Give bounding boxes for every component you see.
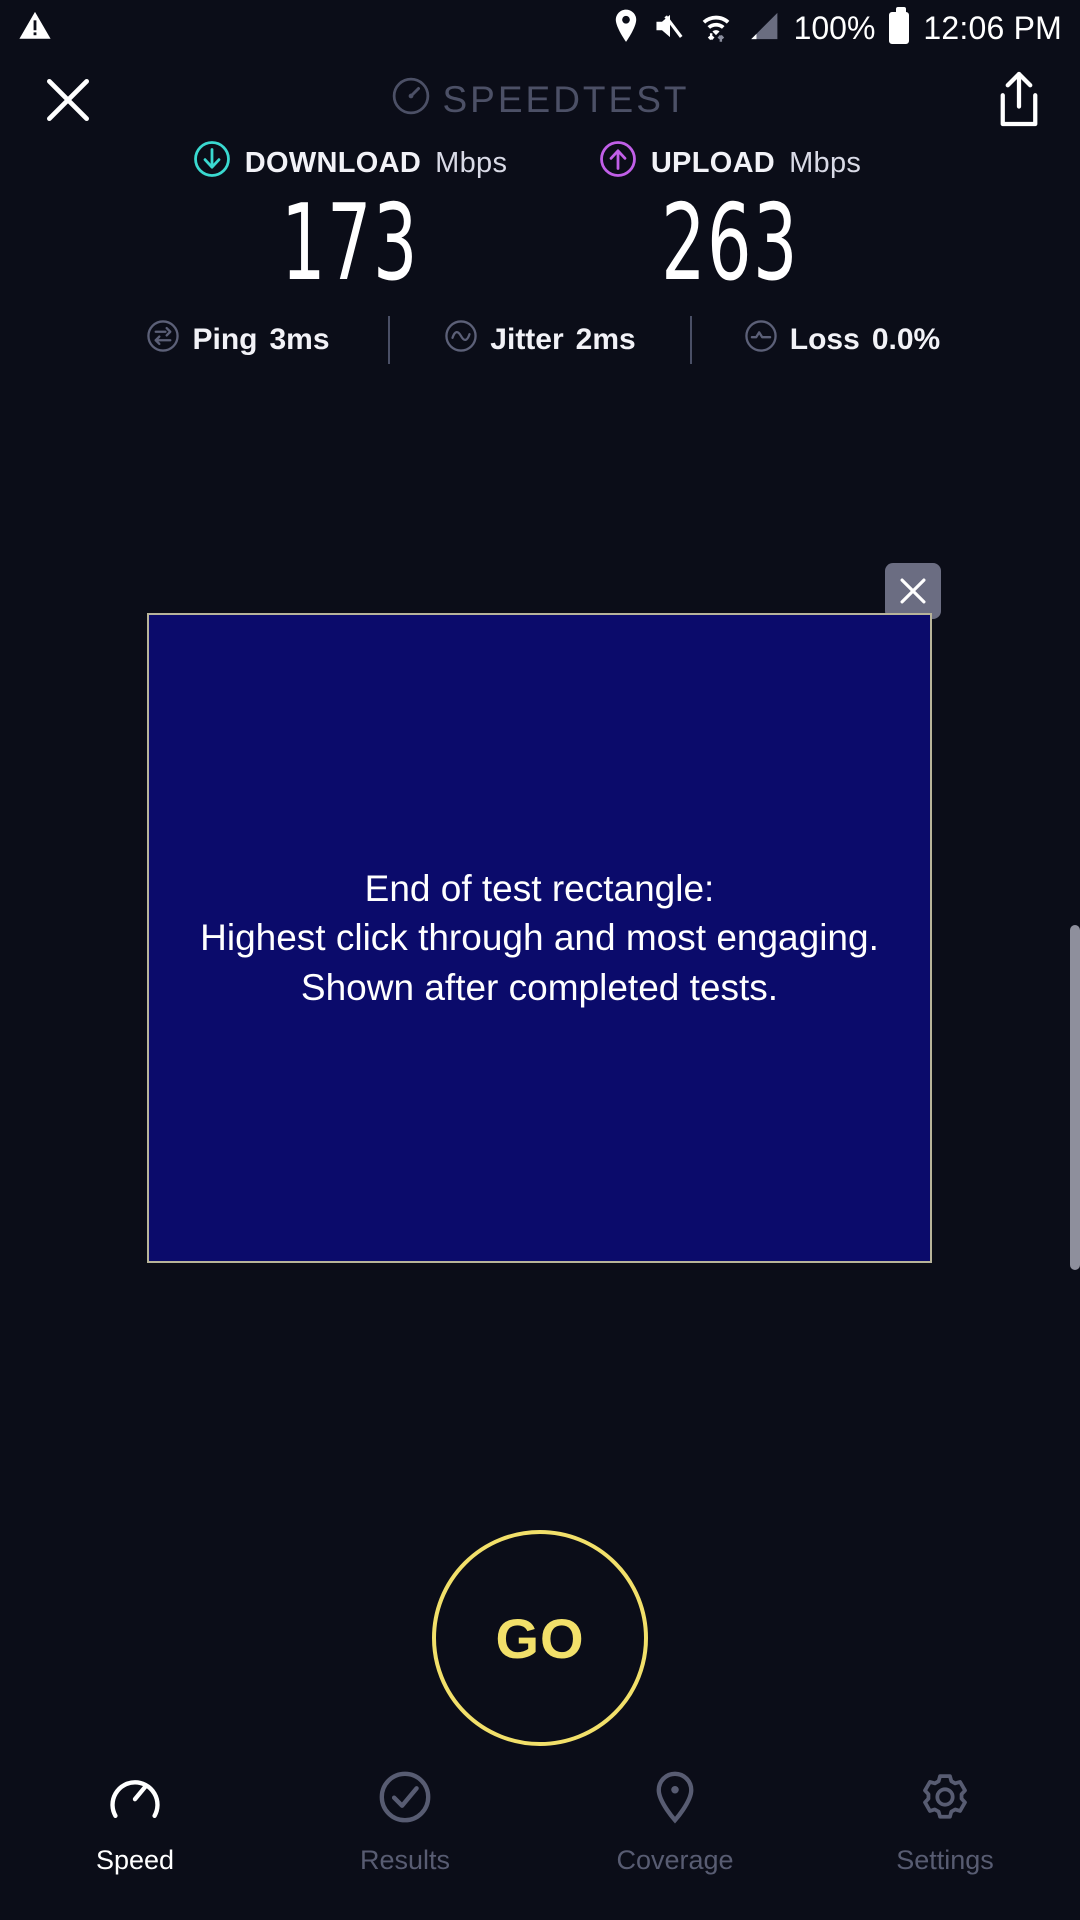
cellular-signal-icon: [746, 11, 780, 46]
nav-label-results: Results: [360, 1845, 450, 1876]
upload-header: UPLOAD Mbps: [540, 140, 920, 186]
close-icon: [896, 574, 930, 608]
close-icon[interactable]: [40, 72, 96, 128]
battery-full-icon: [889, 12, 909, 44]
ping-icon: [146, 319, 180, 361]
nav-item-results[interactable]: Results: [270, 1768, 540, 1876]
share-icon[interactable]: [994, 70, 1044, 130]
ad-text: End of test rectangle: Highest click thr…: [200, 864, 879, 1012]
upload-metric: UPLOAD Mbps 263: [540, 140, 920, 298]
jitter-metric: Jitter 2ms: [390, 319, 690, 361]
speedometer-icon: [106, 1768, 164, 1831]
jitter-icon: [444, 319, 478, 361]
nav-label-coverage: Coverage: [616, 1845, 733, 1876]
go-button[interactable]: GO: [432, 1530, 648, 1746]
volume-mute-icon: [654, 11, 686, 46]
ping-metric: Ping 3ms: [88, 319, 388, 361]
ping-value: 3ms: [269, 323, 329, 357]
download-metric: DOWNLOAD Mbps 173: [160, 140, 540, 298]
status-bar: 100% 12:06 PM: [0, 0, 1080, 56]
location-pin-icon: [646, 1768, 704, 1831]
ping-jitter-loss-row: Ping 3ms Jitter 2ms: [0, 316, 1080, 364]
download-value: 173: [209, 188, 490, 298]
check-circle-icon: [376, 1768, 434, 1831]
status-bar-clock: 12:06 PM: [923, 10, 1062, 47]
ad-line-3: Shown after completed tests.: [200, 963, 879, 1012]
loss-icon: [744, 319, 778, 361]
advertisement-banner[interactable]: End of test rectangle: Highest click thr…: [147, 613, 932, 1263]
download-label: DOWNLOAD: [245, 147, 421, 180]
results-summary: DOWNLOAD Mbps 173 UPLOAD Mbps: [0, 140, 1080, 364]
ad-line-1: End of test rectangle:: [200, 864, 879, 913]
ping-label: Ping: [192, 323, 257, 357]
download-upload-row: DOWNLOAD Mbps 173 UPLOAD Mbps: [0, 140, 1080, 298]
page-title: SPEEDTEST: [0, 76, 1080, 125]
app-title-text: SPEEDTEST: [443, 79, 690, 121]
status-bar-left: [18, 9, 52, 48]
speedtest-app-screen: 100% 12:06 PM SPEEDTEST: [0, 0, 1080, 1920]
loss-value: 0.0%: [872, 323, 940, 357]
upload-unit: Mbps: [789, 147, 861, 180]
nav-item-settings[interactable]: Settings: [810, 1768, 1080, 1876]
download-header: DOWNLOAD Mbps: [160, 140, 540, 186]
loss-label: Loss: [790, 323, 860, 357]
upload-label: UPLOAD: [651, 147, 775, 180]
upload-arrow-icon: [599, 140, 637, 186]
ad-line-2: Highest click through and most engaging.: [200, 913, 879, 962]
upload-value: 263: [589, 188, 870, 298]
jitter-label: Jitter: [490, 323, 563, 357]
download-unit: Mbps: [435, 147, 507, 180]
app-bar: SPEEDTEST: [0, 56, 1080, 144]
speedtest-gauge-icon: [391, 76, 431, 125]
scrollbar-thumb[interactable]: [1070, 925, 1080, 1270]
wifi-transfer-icon: [700, 9, 732, 48]
nav-label-speed: Speed: [96, 1845, 174, 1876]
ad-close-button[interactable]: [885, 563, 941, 619]
battery-percent-label: 100%: [794, 10, 876, 47]
loss-metric: Loss 0.0%: [692, 319, 992, 361]
status-bar-right: 100% 12:06 PM: [612, 9, 1062, 48]
go-button-label: GO: [495, 1606, 584, 1671]
warning-triangle-icon: [18, 9, 52, 48]
gear-icon: [916, 1768, 974, 1831]
nav-item-speed[interactable]: Speed: [0, 1768, 270, 1876]
nav-item-coverage[interactable]: Coverage: [540, 1768, 810, 1876]
location-pin-icon: [612, 9, 640, 48]
bottom-navigation-bar: Speed Results Coverage: [0, 1750, 1080, 1920]
download-arrow-icon: [193, 140, 231, 186]
jitter-value: 2ms: [576, 323, 636, 357]
nav-label-settings: Settings: [896, 1845, 994, 1876]
